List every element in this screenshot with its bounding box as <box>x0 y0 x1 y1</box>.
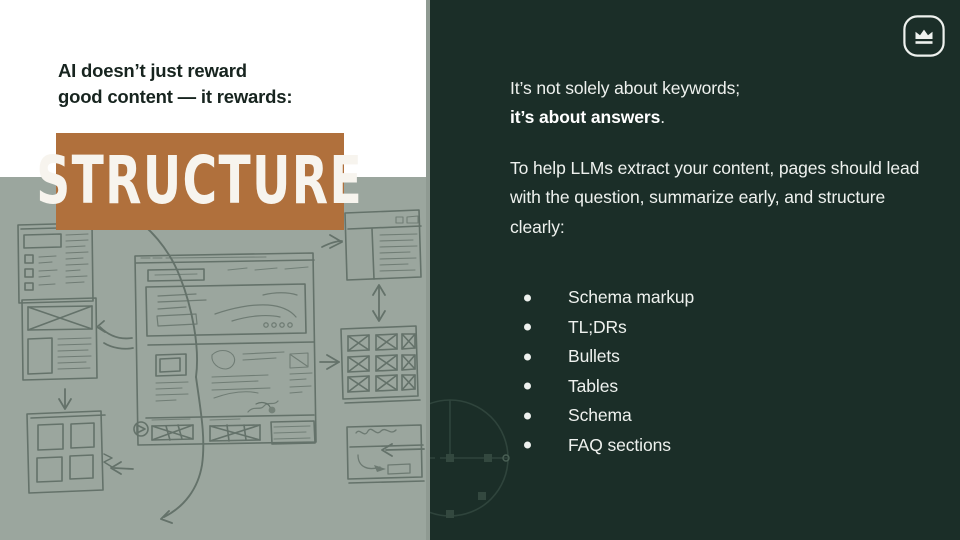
left-panel: AI doesn’t just reward good content — it… <box>0 0 430 540</box>
right-panel: It’s not solely about keywords;it’s abou… <box>430 0 960 540</box>
list-item: Schema <box>510 401 930 431</box>
bullet-dot-icon <box>524 412 531 419</box>
body-text: . <box>660 107 665 127</box>
bullet-dot-icon <box>524 294 531 301</box>
bullet-dot-icon <box>524 442 531 449</box>
body-text: To help LLMs extract your content, pages… <box>510 158 919 237</box>
list-item: Schema markup <box>510 283 930 313</box>
bullet-dot-icon <box>524 383 531 390</box>
list-item: TL;DRs <box>510 313 930 343</box>
headline-line-1: AI doesn’t just reward <box>58 60 247 81</box>
list-item: FAQ sections <box>510 431 930 461</box>
decorative-compass-graphic <box>430 393 515 523</box>
sketch-illustration <box>0 177 430 540</box>
body-paragraph: To help LLMs extract your content, pages… <box>510 154 930 242</box>
body-text: It’s not solely about keywords; <box>510 78 740 98</box>
list-item-label: TL;DRs <box>568 317 627 337</box>
list-item: Tables <box>510 372 930 402</box>
list-item: Bullets <box>510 342 930 372</box>
body-copy: It’s not solely about keywords;it’s abou… <box>510 74 930 263</box>
headline-line-2: good content — it rewards: <box>58 86 292 107</box>
bullet-dot-icon <box>524 353 531 360</box>
structure-banner-word: STRUCTURE <box>37 148 364 214</box>
list-item-label: FAQ sections <box>568 435 671 455</box>
slide-canvas: AI doesn’t just reward good content — it… <box>0 0 960 540</box>
body-paragraph: It’s not solely about keywords;it’s abou… <box>510 74 930 133</box>
list-item-label: Tables <box>568 376 618 396</box>
bullet-list: Schema markupTL;DRsBulletsTablesSchemaFA… <box>510 283 930 460</box>
list-item-label: Schema markup <box>568 287 694 307</box>
bullet-dot-icon <box>524 324 531 331</box>
body-text-emphasis: it’s about answers <box>510 107 660 127</box>
crown-logo[interactable] <box>902 14 946 58</box>
list-item-label: Bullets <box>568 346 620 366</box>
structure-banner: STRUCTURE <box>56 133 344 230</box>
wireframe-sketch-svg <box>0 177 430 540</box>
list-item-label: Schema <box>568 405 632 425</box>
page-headline: AI doesn’t just reward good content — it… <box>58 58 398 111</box>
